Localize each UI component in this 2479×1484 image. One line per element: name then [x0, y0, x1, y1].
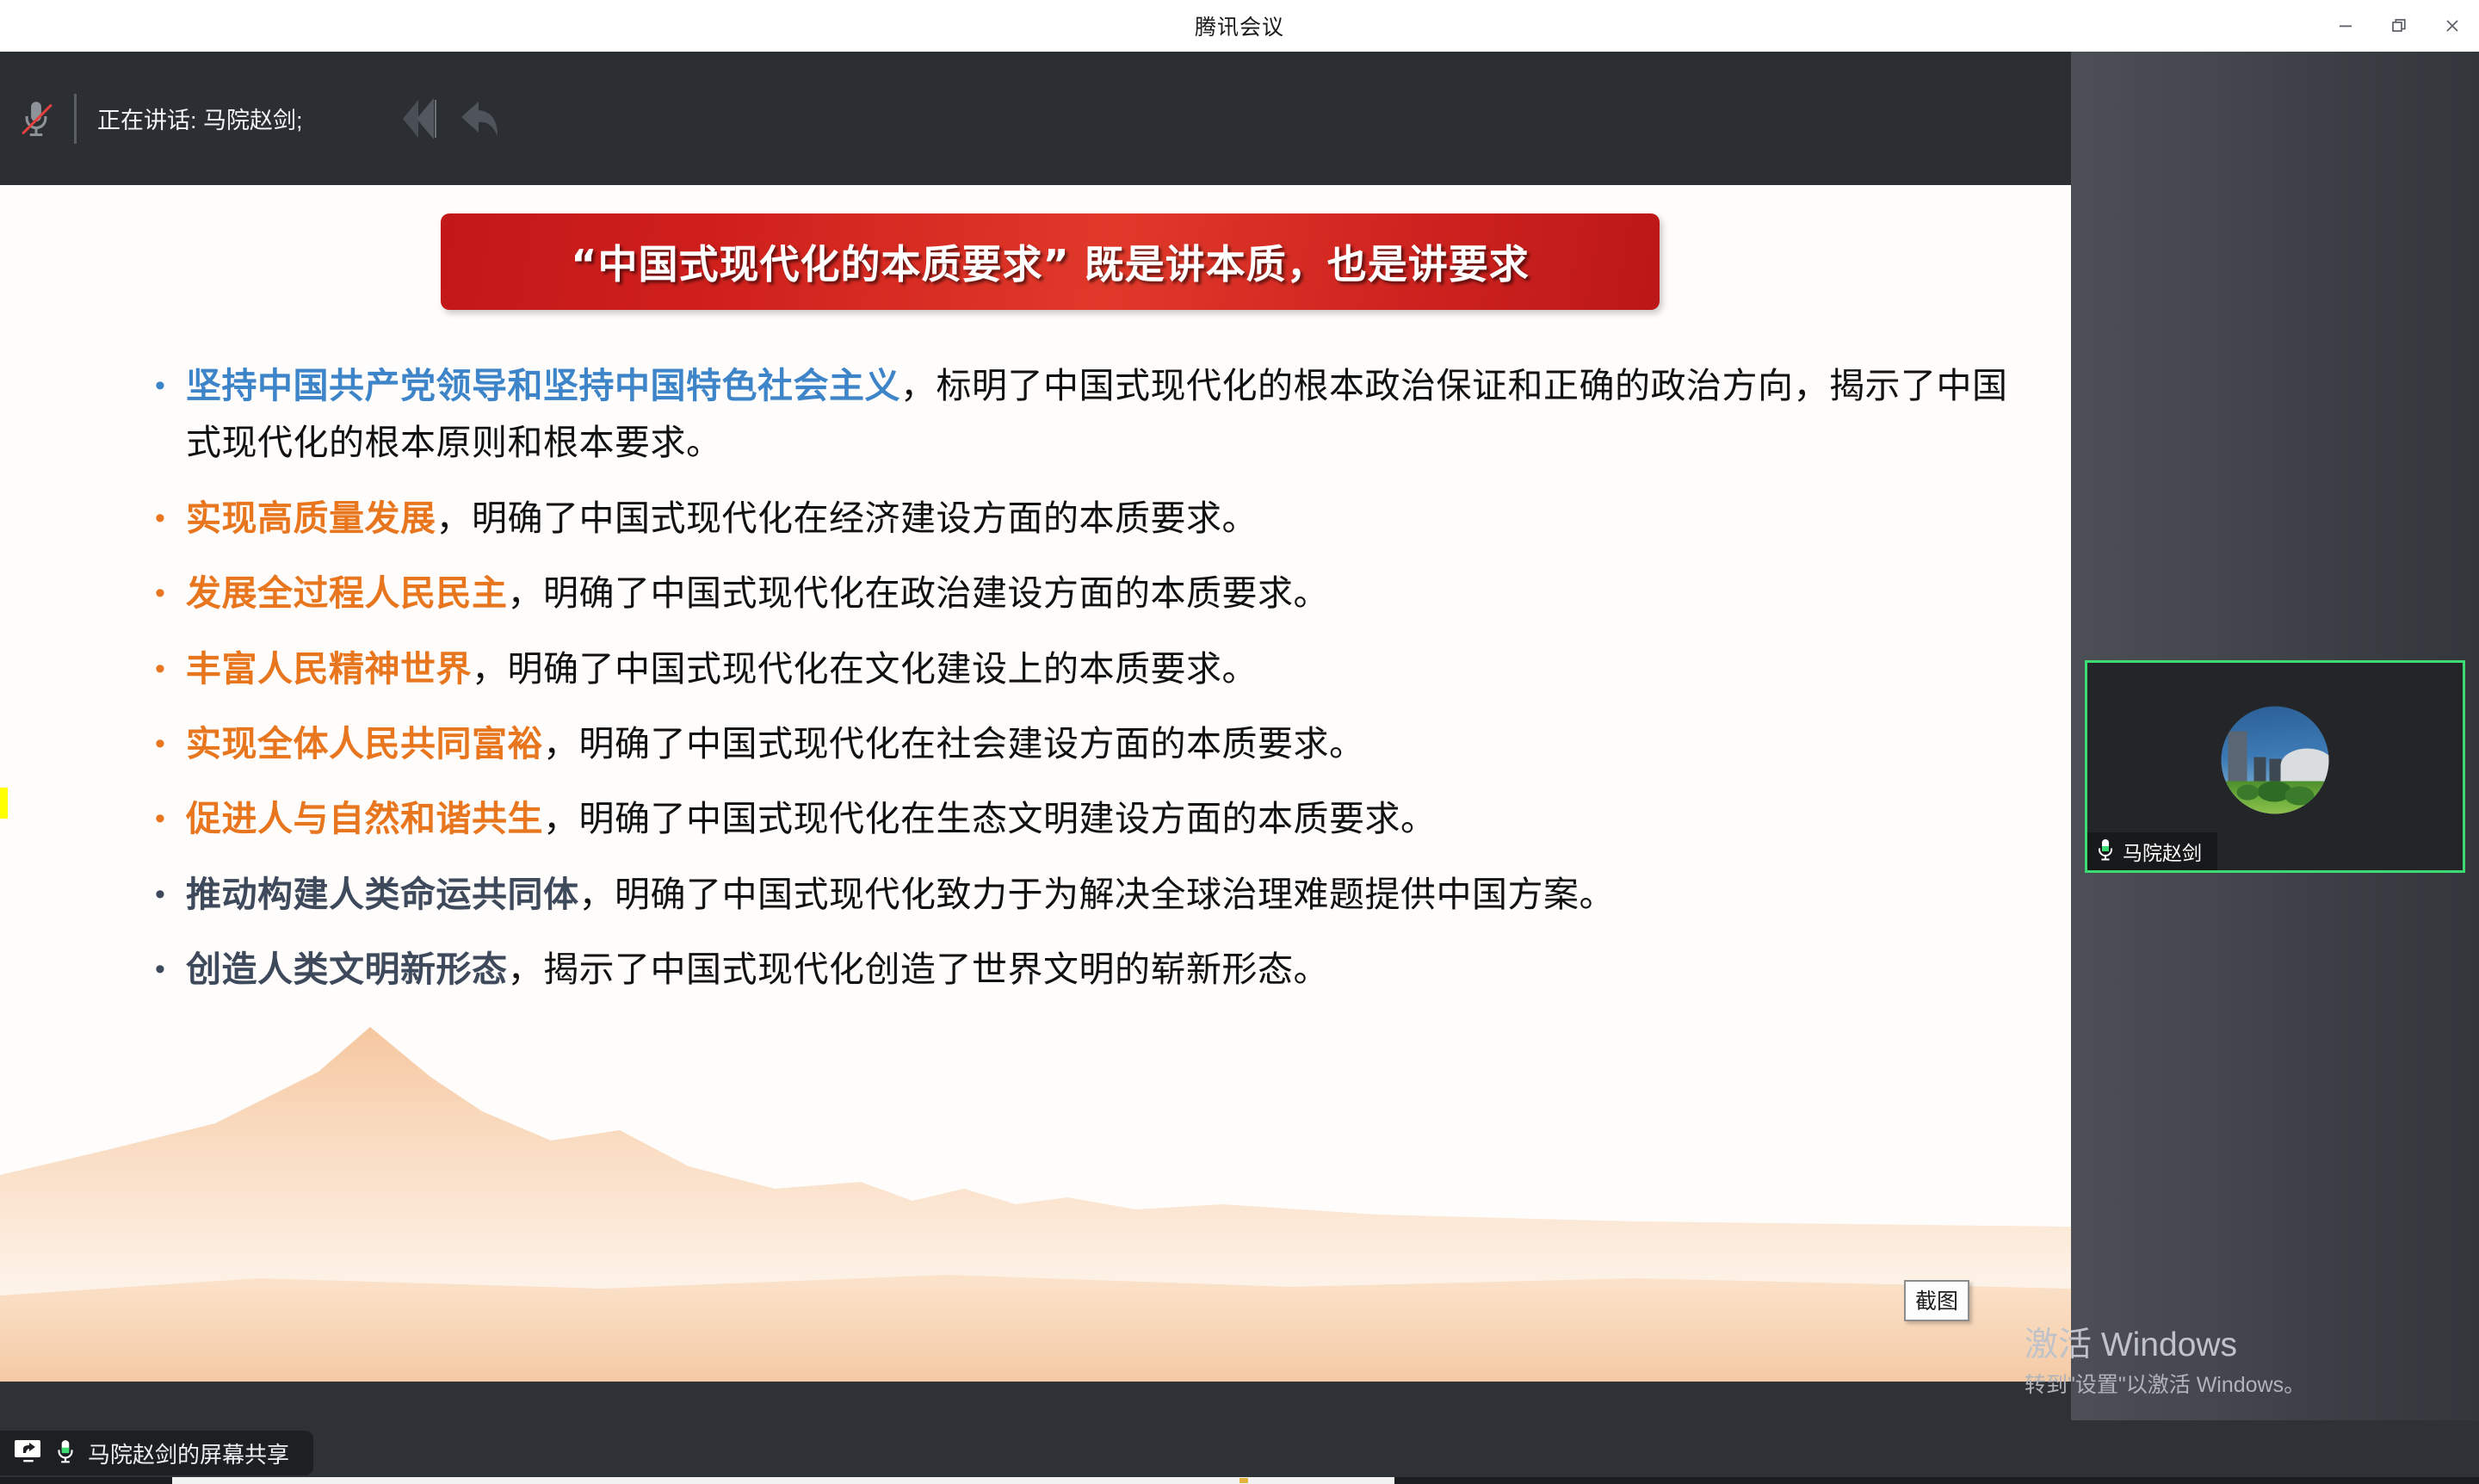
restore-icon [2389, 15, 2409, 36]
slide-bullet-item: •促进人与自然和谐共生，明确了中国式现代化在生态文明建设方面的本质要求。 [146, 790, 2031, 847]
microphone-muted-icon [9, 91, 64, 146]
prev-pages-icon[interactable] [396, 88, 458, 150]
slide-bullet-item: •实现高质量发展，明确了中国式现代化在经济建设方面的本质要求。 [146, 490, 2031, 547]
bullet-text: 推动构建人类命运共同体，明确了中国式现代化致力于为解决全球治理难题提供中国方案。 [186, 866, 1615, 923]
taskbar [0, 1477, 2479, 1484]
bullet-highlight: 实现全体人民共同富裕 [186, 723, 543, 764]
bullet-rest: ，明确了中国式现代化在社会建设方面的本质要求。 [543, 723, 1365, 764]
bullet-rest: ，明确了中国式现代化在经济建设方面的本质要求。 [436, 498, 1258, 539]
bullet-dot-icon: • [146, 941, 186, 998]
restore-button[interactable] [2372, 0, 2426, 52]
title-bar: 腾讯会议 [0, 0, 2479, 52]
tencent-meeting-window: 腾讯会议 [0, 0, 2479, 1484]
slide-title-text: “中国式现代化的本质要求” 既是讲本质，也是讲要求 [571, 233, 1529, 290]
active-speaker-bar: 正在讲话: 马院赵剑; [0, 52, 2071, 185]
speaking-status-text: 正在讲话: 马院赵剑; [97, 102, 303, 135]
share-nav-glyphs [396, 88, 506, 150]
slide-bullet-item: •坚持中国共产党领导和坚持中国特色社会主义，标明了中国式现代化的根本政治保证和正… [146, 357, 2031, 472]
bullet-highlight: 促进人与自然和谐共生 [186, 798, 543, 839]
bullet-rest: ，明确了中国式现代化致力于为解决全球治理难题提供中国方案。 [579, 874, 1616, 915]
slide-bullet-item: •创造人类文明新形态，揭示了中国式现代化创造了世界文明的崭新形态。 [146, 941, 2031, 998]
screen-share-indicator[interactable]: 马院赵剑的屏幕共享 [0, 1431, 313, 1475]
bullet-text: 发展全过程人民民主，明确了中国式现代化在政治建设方面的本质要求。 [186, 565, 1329, 621]
mountain-decoration [0, 1020, 2071, 1382]
window-controls [2319, 0, 2479, 52]
taskbar-active-window[interactable] [172, 1477, 1394, 1484]
bullet-dot-icon: • [146, 866, 186, 923]
bullet-highlight: 推动构建人类命运共同体 [186, 874, 579, 915]
bullet-highlight: 丰富人民精神世界 [186, 648, 472, 689]
bullet-dot-icon: • [146, 640, 186, 697]
microphone-active-icon [2096, 838, 2115, 866]
app-title: 腾讯会议 [1195, 10, 1284, 41]
bullet-text: 创造人类文明新形态，揭示了中国式现代化创造了世界文明的崭新形态。 [186, 941, 1329, 998]
bullet-text: 实现高质量发展，明确了中国式现代化在经济建设方面的本质要求。 [186, 490, 1258, 547]
bullet-rest: ，明确了中国式现代化在生态文明建设方面的本质要求。 [543, 798, 1437, 839]
participant-name-text: 马院赵剑 [2123, 837, 2202, 866]
bullet-highlight: 实现高质量发展 [186, 498, 436, 539]
screen-share-text: 马院赵剑的屏幕共享 [88, 1438, 289, 1469]
bullet-highlight: 坚持中国共产党领导和坚持中国特色社会主义 [186, 365, 900, 406]
bullet-dot-icon: • [146, 565, 186, 621]
slide-title-banner: “中国式现代化的本质要求” 既是讲本质，也是讲要求 [441, 213, 1660, 310]
slide-bullet-item: •实现全体人民共同富裕，明确了中国式现代化在社会建设方面的本质要求。 [146, 715, 2031, 772]
bullet-text: 实现全体人民共同富裕，明确了中国式现代化在社会建设方面的本质要求。 [186, 715, 1365, 772]
screen-share-icon [14, 1438, 43, 1469]
slide-bullet-item: •发展全过程人民民主，明确了中国式现代化在政治建设方面的本质要求。 [146, 565, 2031, 621]
close-button[interactable] [2426, 0, 2479, 52]
close-icon [2442, 15, 2463, 36]
bullet-dot-icon: • [146, 715, 186, 772]
bullet-text: 坚持中国共产党领导和坚持中国特色社会主义，标明了中国式现代化的根本政治保证和正确… [186, 357, 2031, 472]
bullet-dot-icon: • [146, 490, 186, 547]
participant-name-label: 马院赵剑 [2087, 832, 2217, 870]
bullet-highlight: 创造人类文明新形态 [186, 949, 508, 990]
bullet-text: 丰富人民精神世界，明确了中国式现代化在文化建设上的本质要求。 [186, 640, 1258, 697]
return-arrow-icon[interactable] [458, 88, 506, 150]
bullet-rest: ，明确了中国式现代化在文化建设上的本质要求。 [472, 648, 1258, 689]
slide-bullet-item: •丰富人民精神世界，明确了中国式现代化在文化建设上的本质要求。 [146, 640, 2031, 697]
presentation-slide: “中国式现代化的本质要求” 既是讲本质，也是讲要求 •坚持中国共产党领导和坚持中… [0, 185, 2071, 1382]
screenshot-button[interactable]: 截图 [1904, 1280, 1969, 1321]
minimize-icon [2335, 15, 2356, 36]
slide-bullet-item: •推动构建人类命运共同体，明确了中国式现代化致力于为解决全球治理难题提供中国方案… [146, 866, 2031, 923]
bullet-dot-icon: • [146, 790, 186, 847]
avatar-photo [2222, 707, 2329, 814]
bullet-rest: ，揭示了中国式现代化创造了世界文明的崭新形态。 [508, 949, 1330, 990]
bullet-text: 促进人与自然和谐共生，明确了中国式现代化在生态文明建设方面的本质要求。 [186, 790, 1437, 847]
microphone-active-icon [55, 1438, 76, 1469]
taskbar-indicator [1239, 1478, 1248, 1483]
bullet-highlight: 发展全过程人民民主 [186, 572, 508, 614]
bullet-dot-icon: • [146, 357, 186, 414]
shared-screen-region: 正在讲话: 马院赵剑; [0, 52, 2071, 1462]
bullet-rest: ，明确了中国式现代化在政治建设方面的本质要求。 [508, 572, 1330, 614]
slide-edge-marker [0, 788, 8, 819]
minimize-button[interactable] [2319, 0, 2372, 52]
divider [74, 94, 77, 144]
participant-video-tile[interactable]: 马院赵剑 [2085, 660, 2465, 873]
slide-bullet-list: •坚持中国共产党领导和坚持中国特色社会主义，标明了中国式现代化的根本政治保证和正… [146, 357, 2031, 1017]
bottom-bar: 马院赵剑的屏幕共享 [0, 1420, 2479, 1484]
